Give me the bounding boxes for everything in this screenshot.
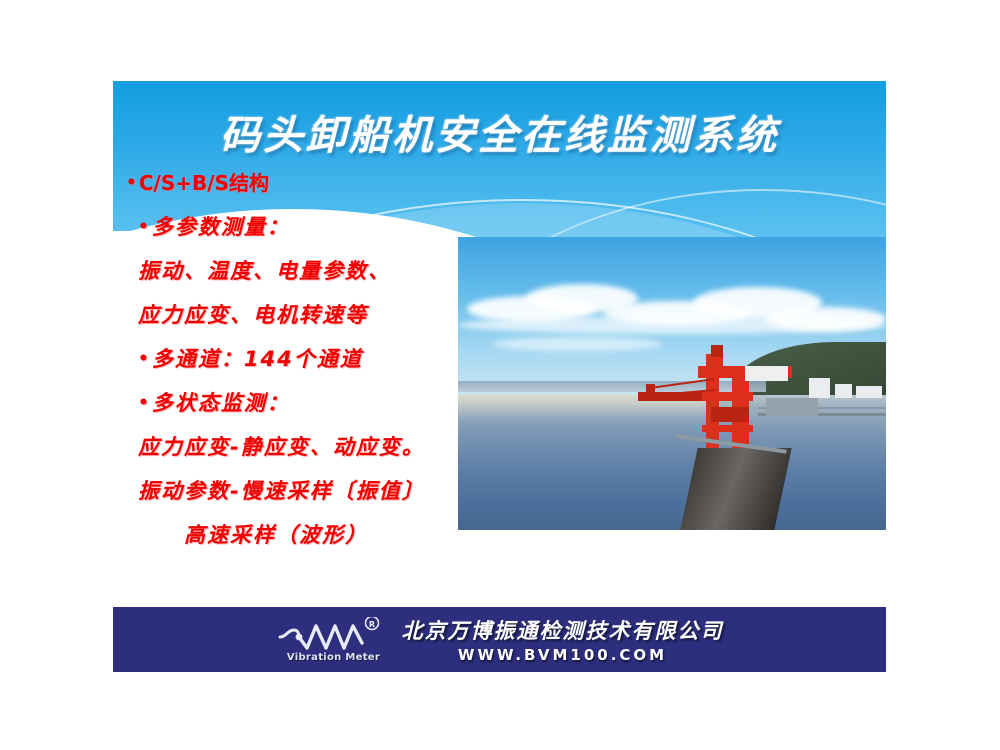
- list-item-label: C/S+B/S结构: [139, 171, 269, 195]
- list-item: 高速采样（波形）: [184, 519, 486, 549]
- bullet-marker: •: [138, 349, 151, 369]
- list-item: •多参数测量：: [138, 211, 486, 241]
- logo-wordmark: Vibration Meter: [282, 652, 386, 663]
- photo-cloud: [492, 337, 663, 352]
- vibration-meter-logo: R Vibration Meter: [276, 617, 388, 663]
- list-item: 振动、温度、电量参数、: [138, 255, 486, 285]
- crane-photo: [458, 237, 886, 530]
- list-item-label: 振动参数-慢速采样〔振值〕: [138, 479, 425, 503]
- photo-jetty-deck: [766, 398, 817, 416]
- list-item-label: 多通道：144个通道: [152, 347, 363, 371]
- list-item-label: 高速采样（波形）: [184, 523, 368, 547]
- bullet-marker: •: [126, 173, 138, 193]
- photo-cloud-band: [458, 316, 886, 334]
- bullet-list: •C/S+B/S结构 •多参数测量： 振动、温度、电量参数、 应力应变、电机转速…: [126, 167, 486, 563]
- list-item: 振动参数-慢速采样〔振值〕: [138, 475, 486, 505]
- svg-text:R: R: [368, 620, 374, 629]
- waveform-logo-icon: R: [276, 617, 388, 653]
- list-item-label: 多状态监测：: [152, 391, 290, 415]
- list-item: 应力应变-静应变、动应变。: [138, 431, 486, 461]
- company-name-cn: 北京万博振通检测技术有限公司: [402, 615, 724, 645]
- company-website[interactable]: WWW.BVM100.COM: [458, 646, 667, 664]
- list-item-label: 多参数测量：: [152, 215, 290, 239]
- list-item: •多通道：144个通道: [138, 343, 486, 373]
- list-item-label: 应力应变-静应变、动应变。: [138, 435, 425, 459]
- bullet-marker: •: [138, 217, 151, 237]
- photo-pier-walkway: [680, 448, 792, 530]
- crane-sign: [745, 366, 788, 381]
- photo-building: [856, 386, 882, 398]
- footer-bar: R Vibration Meter 北京万博振通检测技术有限公司 WWW.BVM…: [113, 607, 886, 672]
- list-item: 应力应变、电机转速等: [138, 299, 486, 329]
- list-item-label: 应力应变、电机转速等: [138, 303, 368, 327]
- list-item: •C/S+B/S结构: [126, 167, 486, 196]
- photo-building: [835, 384, 852, 399]
- footer-company-block: 北京万博振通检测技术有限公司 WWW.BVM100.COM: [402, 615, 724, 664]
- list-item: •多状态监测：: [138, 387, 486, 417]
- slide-title: 码头卸船机安全在线监测系统: [113, 103, 886, 161]
- crane-machinery-house: [711, 407, 750, 422]
- crane-cross-beam-2: [702, 425, 753, 432]
- photo-distant-hills: [458, 381, 766, 393]
- crane-cabin: [711, 345, 724, 357]
- presentation-slide: 码头卸船机安全在线监测系统 •C/S+B/S结构 •多参数测量： 振动、温度、电…: [113, 81, 886, 672]
- photo-building: [809, 378, 830, 399]
- bullet-marker: •: [138, 393, 151, 413]
- list-item-label: 振动、温度、电量参数、: [138, 259, 391, 283]
- crane-cross-beam: [702, 392, 753, 401]
